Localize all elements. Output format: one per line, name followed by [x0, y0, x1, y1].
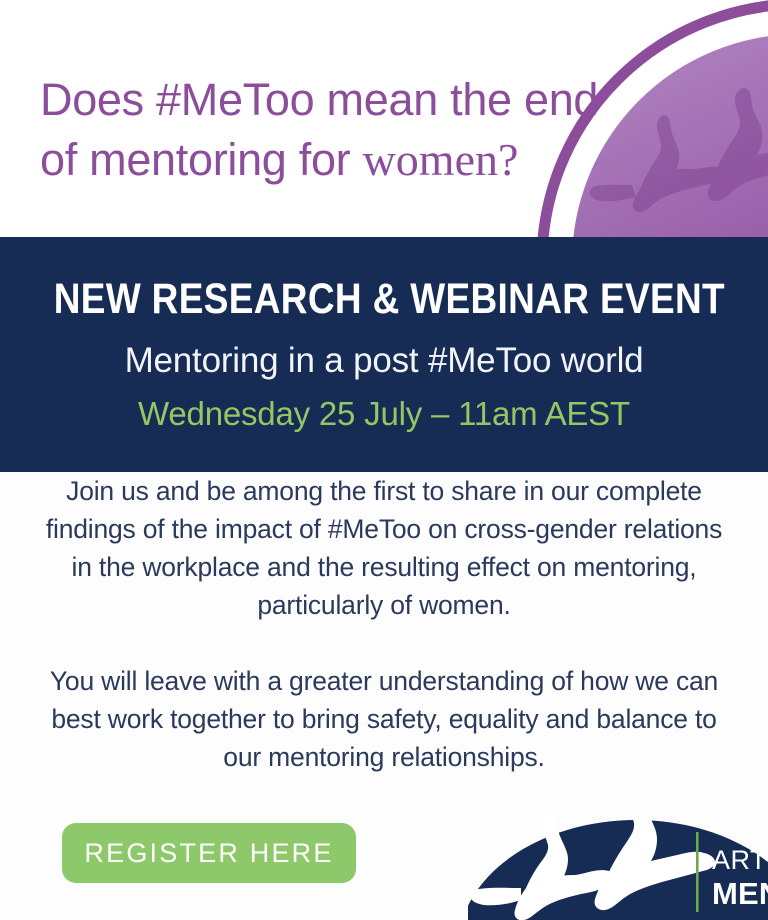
headline-line-1: Does #MeToo mean the end — [40, 74, 598, 125]
footer: REGISTER HERE — [0, 800, 768, 920]
body-copy: Join us and be among the first to share … — [0, 472, 768, 776]
headline-emphasis-word: women? — [363, 134, 519, 185]
page-title: Does #MeToo mean the end of mentoring fo… — [40, 70, 640, 190]
logo-text-art: ARTof — [712, 845, 768, 875]
headline-line-2-prefix: of mentoring for — [40, 134, 363, 185]
logo-text-mentoring: MENTORING — [712, 876, 768, 911]
banner-date: Wednesday 25 July – 11am AEST — [0, 382, 768, 434]
promotional-poster: Does #MeToo mean the end of mentoring fo… — [0, 0, 768, 920]
body-paragraph-2: You will leave with a greater understand… — [0, 624, 768, 776]
body-paragraph-1: Join us and be among the first to share … — [0, 472, 768, 624]
event-banner: NEW RESEARCH & WEBINAR EVENT Mentoring i… — [0, 237, 768, 472]
art-of-mentoring-logo: ARTof MENTORING — [468, 816, 768, 920]
register-here-button[interactable]: REGISTER HERE — [62, 823, 356, 883]
logo-divider — [696, 832, 699, 912]
hero-section: Does #MeToo mean the end of mentoring fo… — [0, 0, 768, 237]
banner-subtitle: Mentoring in a post #MeToo world — [0, 322, 768, 382]
banner-eyebrow: NEW RESEARCH & WEBINAR EVENT — [54, 237, 714, 322]
